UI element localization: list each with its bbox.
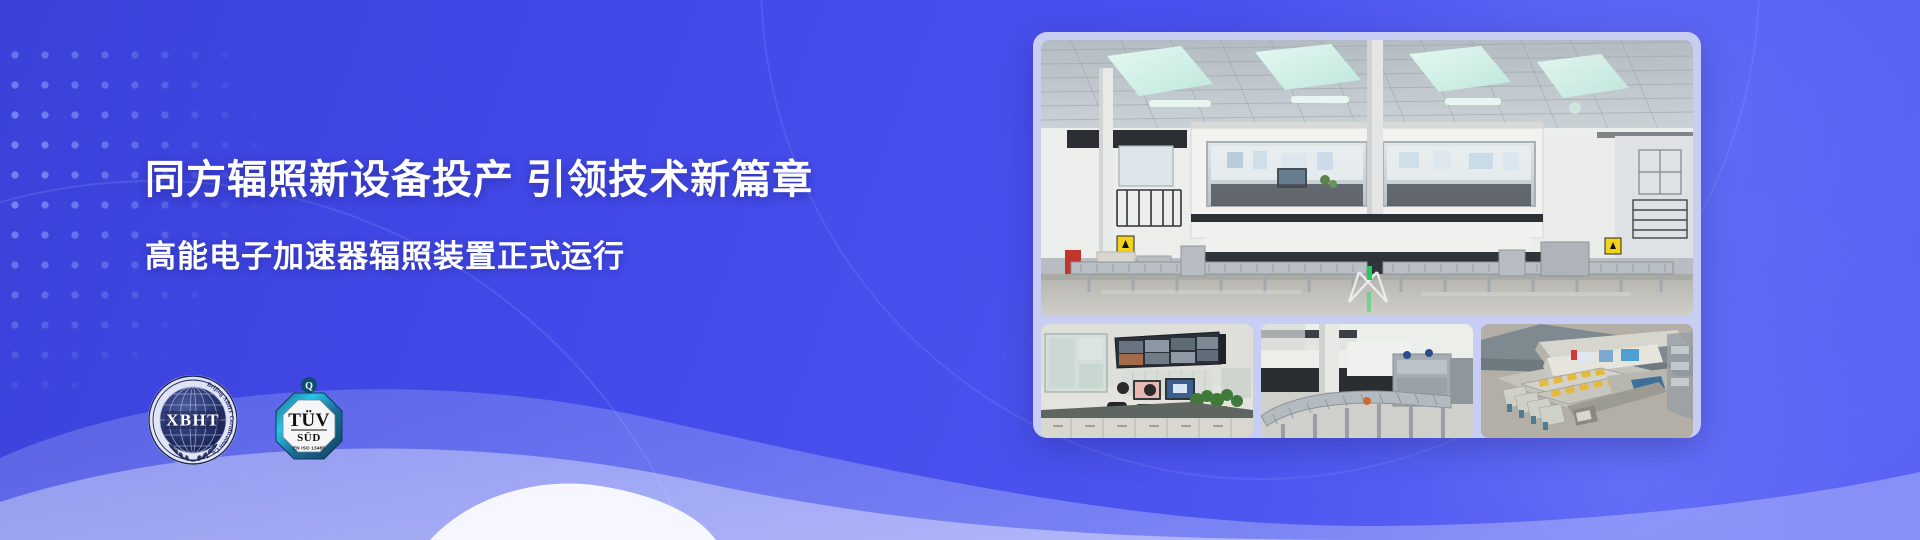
thumb-control-room-graphic — [1041, 324, 1253, 438]
certification-badges: XBHT Beijing XBHT Certification Co., Ltd… — [145, 372, 351, 468]
tuv-sud-badge-icon: Q TÜV SÜD EN ISO 13485 — [267, 376, 351, 464]
xbht-certification-badge-icon: XBHT Beijing XBHT Certification Co., Ltd… — [145, 372, 241, 468]
svg-text:SÜD: SÜD — [297, 431, 321, 444]
thumb-facility-3d-render[interactable] — [1481, 324, 1693, 438]
hero-photo-irradiation-hall — [1041, 40, 1693, 316]
svg-text:TÜV: TÜV — [288, 410, 330, 431]
banner-subtitle: 高能电子加速器辐照装置正式运行 — [145, 238, 625, 275]
gallery-card — [1033, 32, 1701, 438]
banner-text-column: 同方辐照新设备投产 引领技术新篇章 高能电子加速器辐照装置正式运行 — [145, 0, 905, 540]
thumb-control-room[interactable] — [1041, 324, 1253, 438]
thumbnail-row — [1041, 324, 1693, 438]
svg-text:XBHT: XBHT — [166, 411, 220, 430]
banner-headline: 同方辐照新设备投产 引领技术新篇章 — [145, 156, 813, 204]
svg-text:EN ISO 13485: EN ISO 13485 — [293, 446, 325, 451]
promo-banner: 同方辐照新设备投产 引领技术新篇章 高能电子加速器辐照装置正式运行 — [0, 0, 1920, 540]
thumb-conveyor-graphic — [1261, 324, 1473, 438]
thumb-3d-render-graphic — [1481, 324, 1693, 438]
hero-photo-graphic — [1041, 40, 1693, 316]
thumb-conveyor-line[interactable] — [1261, 324, 1473, 438]
svg-text:Q: Q — [305, 381, 313, 392]
